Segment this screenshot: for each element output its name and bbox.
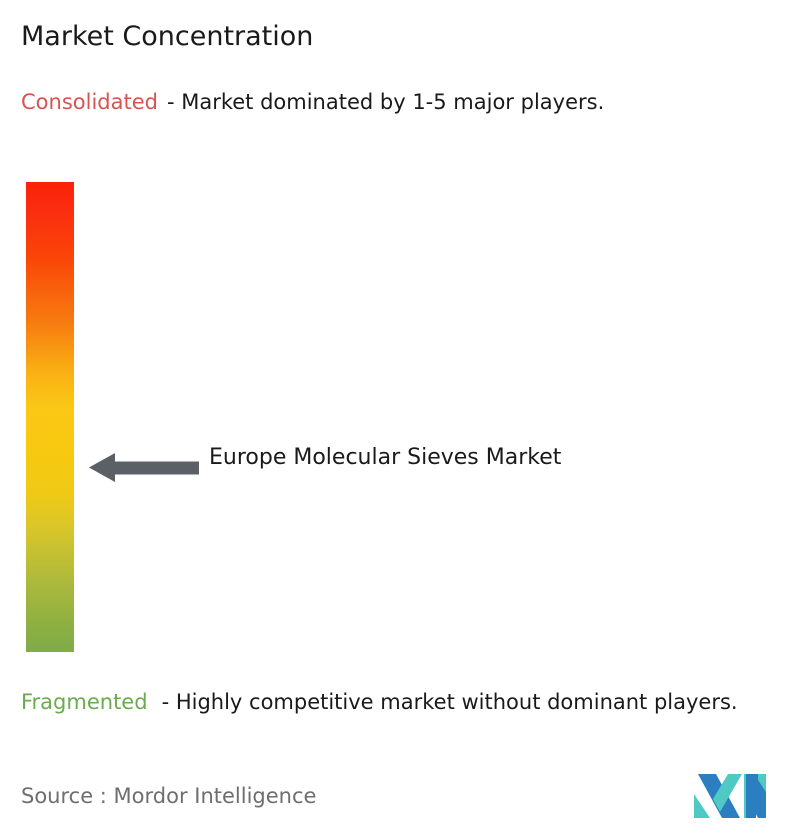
callout-label-europe-molecular-sieves-market: Europe Molecular Sieves Market xyxy=(209,440,629,475)
source-attribution: Source : Mordor Intelligence xyxy=(21,782,316,810)
legend-consolidated: Consolidated- Market dominated by 1-5 ma… xyxy=(21,86,761,118)
left-arrow-icon xyxy=(89,452,199,483)
legend-fragmented-description: - Highly competitive market without domi… xyxy=(162,690,738,714)
legend-consolidated-keyword: Consolidated xyxy=(21,90,158,114)
market-concentration-scale-bar xyxy=(26,182,74,652)
mordor-intelligence-logo-icon xyxy=(694,772,766,818)
legend-consolidated-description: - Market dominated by 1-5 major players. xyxy=(167,90,604,114)
legend-fragmented-keyword: Fragmented xyxy=(21,690,148,714)
legend-fragmented: Fragmented- Highly competitive market wi… xyxy=(21,686,781,718)
page-title: Market Concentration xyxy=(21,20,313,54)
brand-logo xyxy=(694,772,766,818)
callout-pointer xyxy=(89,452,199,483)
